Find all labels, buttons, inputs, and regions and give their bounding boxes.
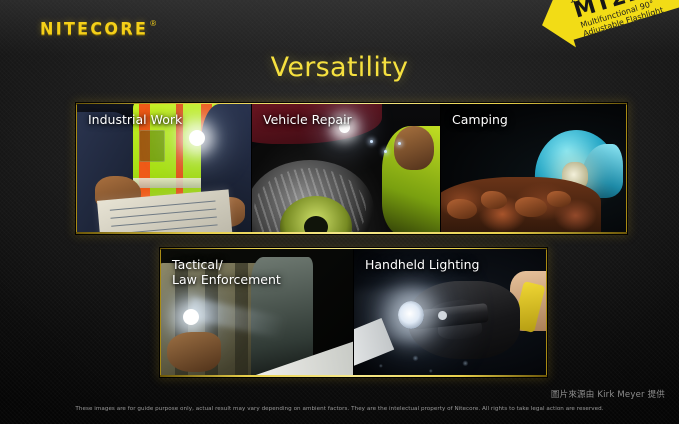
panel-camping: Camping: [440, 104, 626, 233]
disclaimer-text: These images are for guide purpose only,…: [0, 406, 679, 412]
panel-industrial-work: Industrial Work: [77, 104, 251, 233]
nitecore-logo: NITECORE ®: [40, 19, 156, 38]
panel-caption: Handheld Lighting: [365, 257, 479, 272]
image-row-2: Tactical/ Law Enforcement Handheld Light…: [160, 248, 547, 377]
image-row-1: Industrial Work Vehicle Repair: [76, 103, 627, 234]
flashlight-glow-icon: [183, 309, 199, 325]
photo-credit: 圖片來源由 Kirk Meyer 提供: [551, 388, 665, 400]
panel-caption: Vehicle Repair: [263, 112, 352, 127]
panel-caption: Industrial Work: [88, 112, 182, 127]
product-slide: NITECORE ® 1000 lumens MT21C Multifuncti…: [0, 0, 679, 424]
flashlight-glow-icon: [398, 301, 424, 329]
panel-handheld-lighting: Handheld Lighting: [353, 249, 546, 376]
flashlight-glow-icon: [189, 130, 205, 146]
panel-vehicle-repair: Vehicle Repair: [251, 104, 440, 233]
brand-name: NITECORE: [40, 19, 148, 39]
registered-mark-icon: ®: [150, 19, 156, 28]
panel-tactical-law-enforcement: Tactical/ Law Enforcement: [161, 249, 353, 376]
page-title: Versatility: [0, 52, 679, 83]
panel-caption: Camping: [452, 112, 508, 127]
panel-caption: Tactical/ Law Enforcement: [172, 257, 281, 288]
